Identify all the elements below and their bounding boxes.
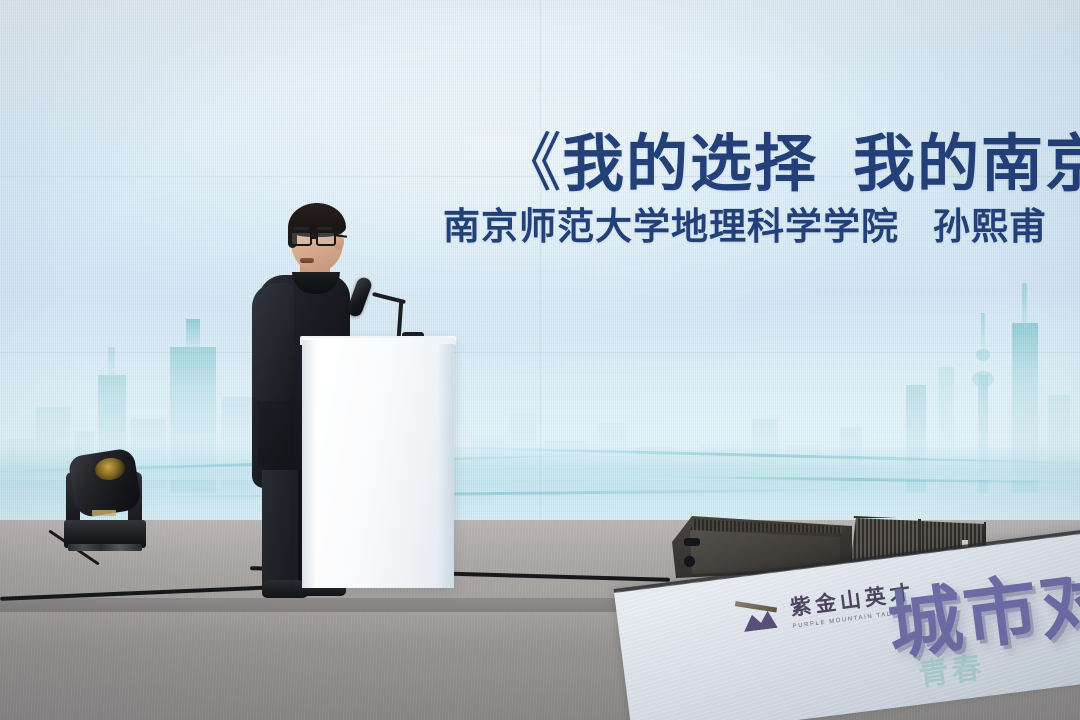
title-line-1: 我的选择 (562, 131, 818, 199)
eyebrow (317, 227, 332, 230)
eyebrow (293, 227, 310, 230)
mountain-icon (734, 597, 783, 633)
speaker-affiliation: 南京师范大学地理科学学院 (443, 207, 899, 248)
fixture-badge (92, 510, 116, 516)
led-backdrop-wall: 《我的选择 我的南京》 南京师范大学地理科学学院孙熙甫 (0, 0, 1080, 585)
panel-seam (540, 0, 541, 585)
speaker-name: 孙熙甫 (933, 207, 1047, 248)
title-open-bracket: 《 (498, 128, 562, 199)
title-line-2: 我的南京 (853, 131, 1080, 199)
fixture-feet (68, 544, 142, 551)
presentation-subtitle: 南京师范大学地理科学学院孙熙甫 (443, 196, 1047, 250)
event-stage-photo: 《我的选择 我的南京》 南京师范大学地理科学学院孙熙甫 (0, 0, 1080, 720)
podium-right-bevel (437, 344, 454, 588)
monitor-port (684, 556, 695, 567)
presentation-title: 《我的选择 我的南京》 (498, 112, 1080, 204)
moving-head-light-fixture (62, 448, 148, 552)
eyeglasses-icon (290, 231, 344, 246)
mouth (300, 258, 314, 263)
podium-left-bevel (302, 340, 316, 588)
monitor-handle (684, 538, 700, 546)
podium (302, 338, 454, 588)
banner-ghost-text: 青春 (916, 642, 987, 694)
shoulder (252, 283, 294, 401)
